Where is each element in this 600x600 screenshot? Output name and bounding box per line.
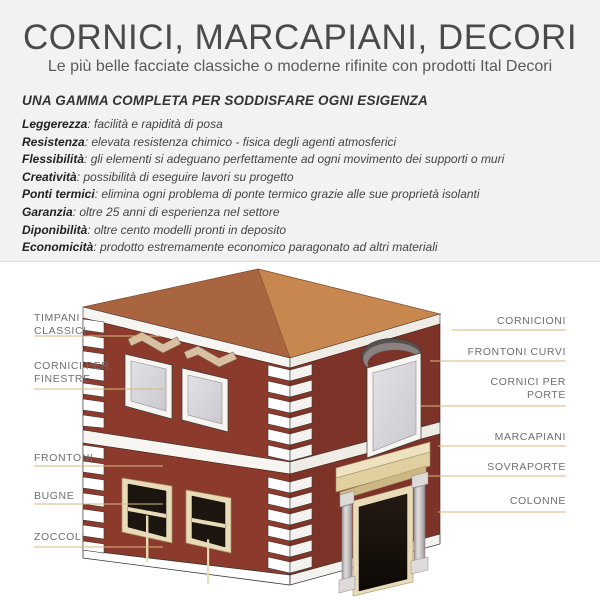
infographic-page: CORNICI, MARCAPIANI, DECORI Le più belle… — [0, 0, 600, 600]
feature-item: Resistenza: elevata resistenza chimico -… — [22, 134, 582, 152]
feature-description: : elevata resistenza chimico - fisica de… — [85, 135, 396, 149]
feature-description: : facilità e rapidità di posa — [87, 117, 222, 131]
feature-list: Leggerezza: facilità e rapidità di posaR… — [22, 116, 582, 257]
feature-description: : gli elementi si adeguano perfettamente… — [84, 152, 504, 166]
feature-term: Creatività — [22, 170, 77, 184]
feature-item: Diponibilità: oltre cento modelli pronti… — [22, 222, 582, 240]
feature-term: Ponti termici — [22, 187, 95, 201]
callout-right-4: SOVRAPORTE — [0, 461, 566, 474]
feature-term: Garanzia — [22, 205, 73, 219]
callout-left-4: ZOCCOLI — [34, 531, 85, 544]
section-heading: UNA GAMMA COMPLETA PER SODDISFARE OGNI E… — [22, 93, 428, 108]
callout-right-0: CORNICIONI — [0, 315, 566, 328]
feature-item: Garanzia: oltre 25 anni di esperienza ne… — [22, 204, 582, 222]
feature-description: : oltre cento modelli pronti in deposito — [87, 223, 286, 237]
feature-term: Resistenza — [22, 135, 85, 149]
feature-item: Leggerezza: facilità e rapidità di posa — [22, 116, 582, 134]
feature-term: Leggerezza — [22, 117, 87, 131]
callout-right-3: MARCAPIANI — [0, 431, 566, 444]
feature-item: Ponti termici: elimina ogni problema di … — [22, 186, 582, 204]
callout-right-1: FRONTONI CURVI — [0, 346, 566, 359]
feature-description: : possibilità di eseguire lavori su prog… — [77, 170, 294, 184]
feature-item: Economicità: prodotto estremamente econo… — [22, 239, 582, 257]
callout-right-5: COLONNE — [0, 495, 566, 508]
header-section: CORNICI, MARCAPIANI, DECORI Le più belle… — [0, 0, 600, 262]
page-title: CORNICI, MARCAPIANI, DECORI — [0, 18, 600, 58]
feature-description: : oltre 25 anni di esperienza nel settor… — [73, 205, 280, 219]
feature-term: Economicità — [22, 240, 93, 254]
feature-term: Diponibilità — [22, 223, 87, 237]
feature-item: Creatività: possibilità di eseguire lavo… — [22, 169, 582, 187]
callout-right-2: CORNICI PER PORTE — [0, 376, 566, 402]
feature-description: : elimina ogni problema di ponte termico… — [95, 187, 480, 201]
feature-description: : prodotto estremamente economico parago… — [93, 240, 437, 254]
page-subtitle: Le più belle facciate classiche o modern… — [0, 58, 600, 76]
feature-term: Flessibilità — [22, 152, 84, 166]
feature-item: Flessibilità: gli elementi si adeguano p… — [22, 151, 582, 169]
